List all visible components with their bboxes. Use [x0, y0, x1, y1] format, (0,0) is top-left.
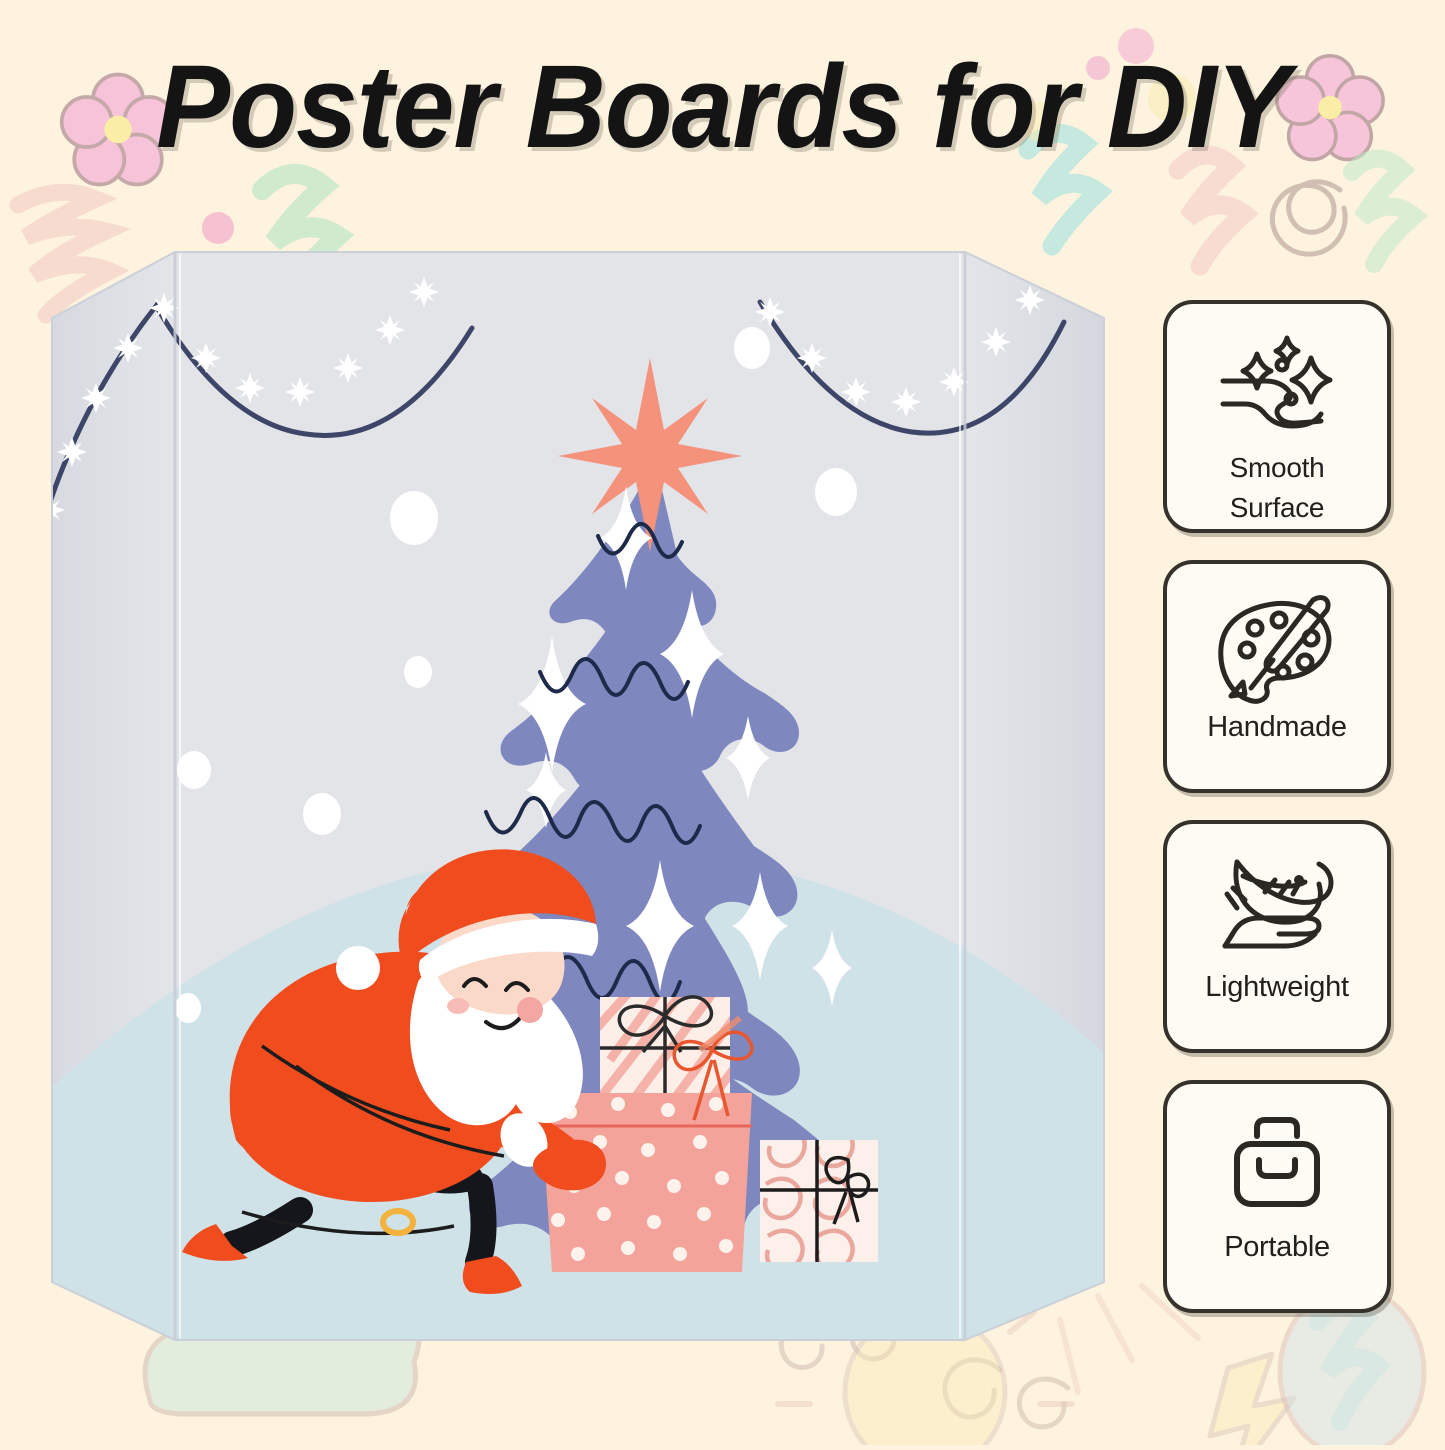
tri-fold-board: [0, 0, 1160, 1400]
feature-badge-lightweight[interactable]: Lightweight: [1163, 820, 1391, 1053]
feather-hand-icon: [1213, 846, 1341, 964]
page-title: Poster Boards for DIY: [0, 48, 1445, 178]
santa-nose: [517, 997, 543, 1023]
lightning-yellow-bottomright: [1210, 1354, 1294, 1445]
poster-image-canvas: Poster Boards for DIY: [0, 0, 1445, 1445]
spiral-mauve-topright: [1272, 182, 1345, 254]
feature-label-line: Surface: [1172, 488, 1382, 528]
paint-palette-icon: [1213, 586, 1341, 704]
product-illustration: [0, 0, 1160, 1445]
feature-badge-label: Handmade: [1172, 710, 1382, 745]
feature-badge-label: Portable: [1172, 1230, 1382, 1265]
briefcase-icon: [1213, 1106, 1341, 1224]
santa-hat-pompom: [336, 946, 380, 990]
feature-badge-handmade[interactable]: Handmade: [1163, 560, 1391, 793]
sparkle-hand-icon: [1213, 326, 1341, 444]
feature-badge-portable[interactable]: Portable: [1163, 1080, 1391, 1313]
gift-box-loop: [760, 1127, 878, 1270]
feature-badge-label: Lightweight: [1172, 970, 1382, 1005]
page-title-text: Poster Boards for DIY: [156, 48, 1289, 166]
feature-badge-label: Smooth Surface: [1172, 448, 1382, 528]
feature-badge-list: Smooth Surface Handma: [1163, 300, 1395, 1340]
feature-badge-smooth-surface[interactable]: Smooth Surface: [1163, 300, 1391, 533]
feature-label-line: Smooth: [1172, 448, 1382, 488]
